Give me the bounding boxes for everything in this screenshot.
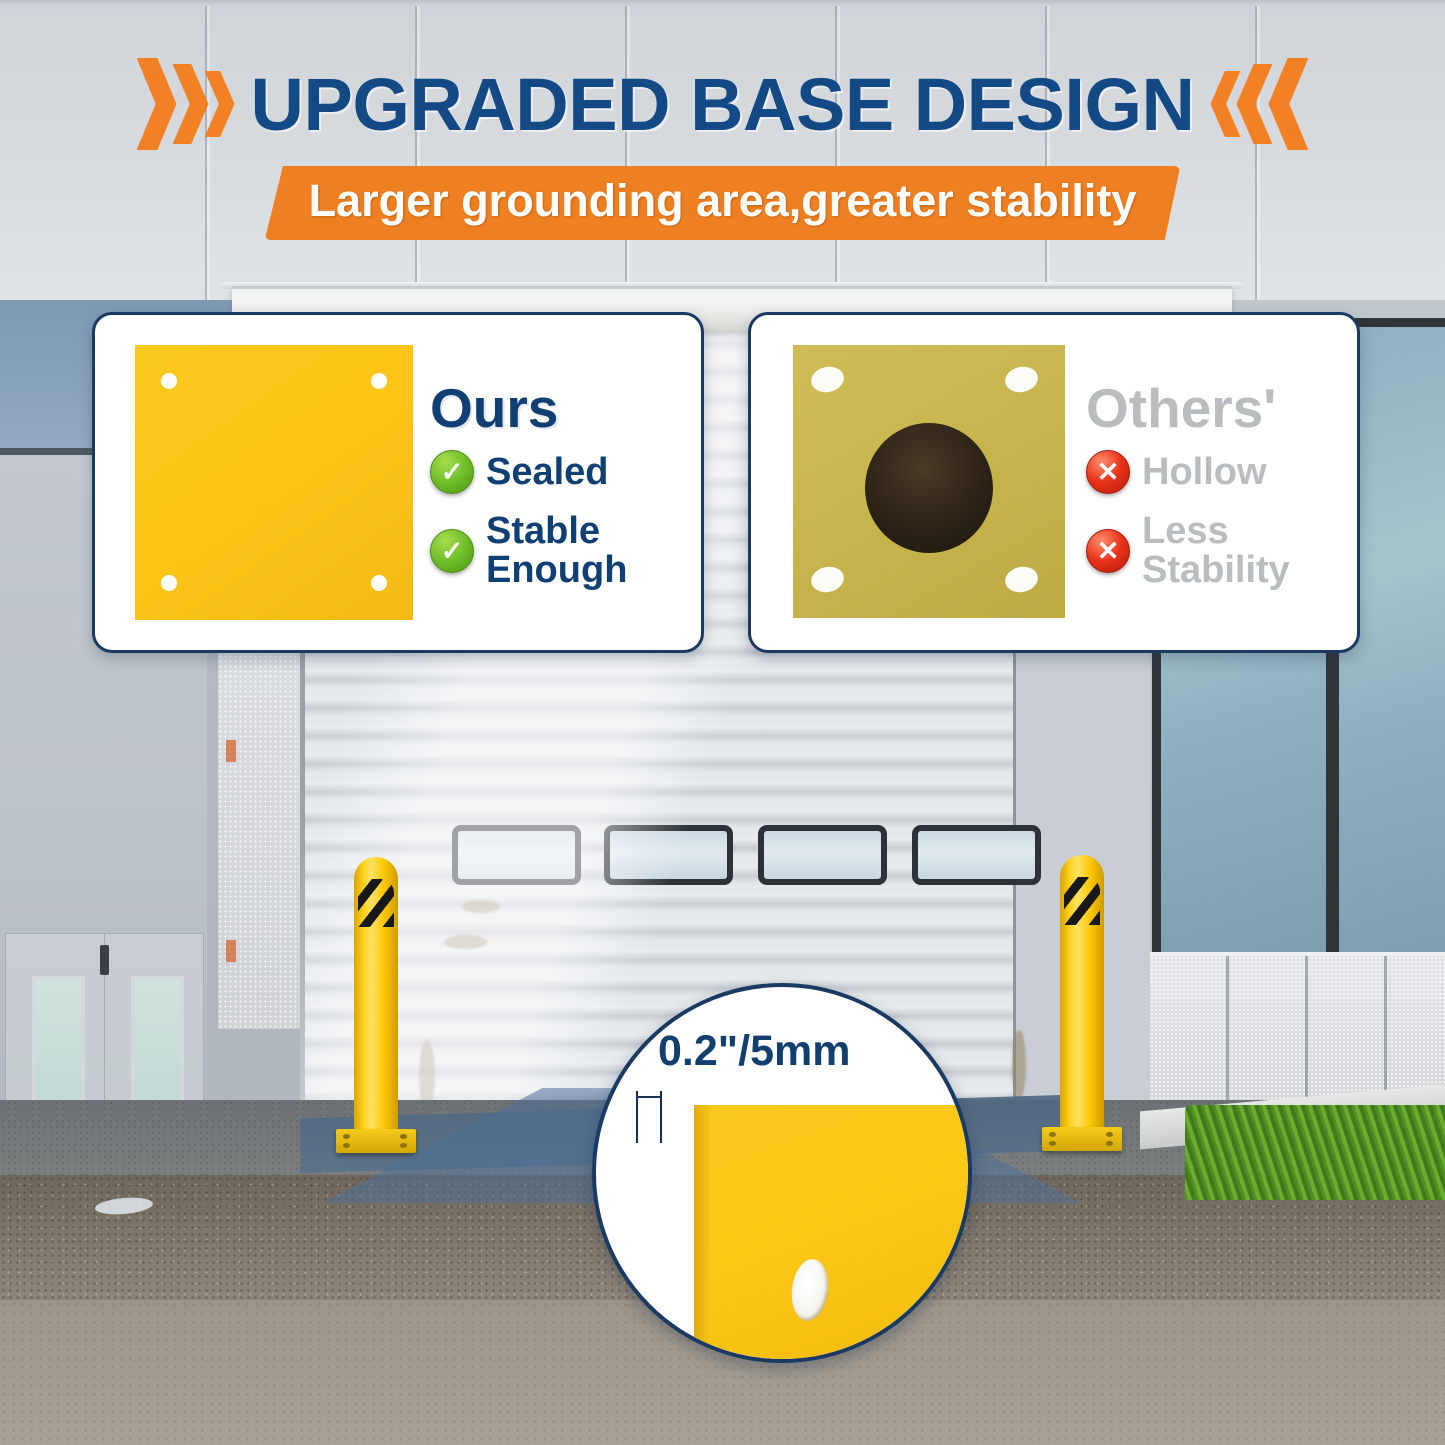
feature-label: Hollow <box>1142 453 1267 492</box>
wall-marking <box>226 740 236 762</box>
thickness-label: 0.2"/5mm <box>658 1027 851 1076</box>
chevron-right-icon <box>137 58 177 150</box>
feature-item-sealed: ✓ Sealed <box>430 450 698 494</box>
hazard-stripes <box>358 879 394 927</box>
feature-item-stable-enough: ✓ Stable Enough <box>430 512 698 590</box>
ours-base-plate-image <box>135 345 413 620</box>
bollard-base-plate <box>336 1129 416 1153</box>
subtitle-text: Larger grounding area,greater stability <box>309 175 1137 227</box>
feature-label-line2: Enough <box>486 551 627 590</box>
check-circle-icon: ✓ <box>430 529 474 573</box>
x-circle-icon: ✕ <box>1086 450 1130 494</box>
subtitle-banner: Larger grounding area,greater stability <box>265 166 1181 240</box>
thickness-caliper-icon <box>636 1091 662 1143</box>
ours-feature-list: ✓ Sealed ✓ Stable Enough <box>430 450 698 590</box>
ours-card-text: Ours ✓ Sealed ✓ Stable Enough <box>430 315 698 650</box>
magnified-plate <box>694 1105 972 1363</box>
bollard-base-plate <box>1042 1127 1122 1151</box>
hazard-stripes <box>1064 877 1100 925</box>
page-title: UPGRADED BASE DESIGN <box>251 62 1195 147</box>
wall-top-shadow <box>0 0 1445 6</box>
wall-marking <box>226 940 236 962</box>
others-heading: Others' <box>1086 381 1354 436</box>
door-handle-icon <box>100 945 109 975</box>
feature-label: Stable Enough <box>486 512 627 590</box>
shutter-window-panel <box>758 825 887 885</box>
ours-heading: Ours <box>430 381 698 436</box>
chevron-group-right <box>1210 58 1308 150</box>
chevron-left-icon <box>1236 64 1272 144</box>
feature-label-line2: Stability <box>1142 551 1290 590</box>
comparison-card-ours: Ours ✓ Sealed ✓ Stable Enough <box>92 312 704 653</box>
feature-item-hollow: ✕ Hollow <box>1086 450 1354 494</box>
others-card-text: Others' ✕ Hollow ✕ Less Stability <box>1086 315 1354 650</box>
feature-item-less-stability: ✕ Less Stability <box>1086 512 1354 590</box>
shutter-stain <box>1012 1030 1026 1100</box>
chevron-right-icon <box>205 71 235 137</box>
comparison-card-others: Others' ✕ Hollow ✕ Less Stability <box>748 312 1360 653</box>
shutter-stain <box>462 900 500 913</box>
magnifier-callout: 0.2"/5mm <box>592 983 972 1363</box>
chevron-left-icon <box>1268 58 1308 150</box>
feature-label-line1: Less <box>1142 512 1290 551</box>
hollow-center-hole <box>865 423 993 553</box>
magnified-plate-edge <box>694 1105 710 1363</box>
check-circle-icon: ✓ <box>430 450 474 494</box>
feature-label: Sealed <box>486 453 609 492</box>
shutter-window-panel <box>452 825 581 885</box>
chevron-left-icon <box>1210 71 1240 137</box>
others-feature-list: ✕ Hollow ✕ Less Stability <box>1086 450 1354 590</box>
title-row: UPGRADED BASE DESIGN <box>0 58 1445 150</box>
others-base-plate-image <box>793 345 1065 618</box>
shutter-stain <box>444 935 488 949</box>
chevron-right-icon <box>173 64 209 144</box>
chevron-group-left <box>137 58 235 150</box>
feature-label-line1: Stable <box>486 512 627 551</box>
feature-label: Less Stability <box>1142 512 1290 590</box>
grass-patch <box>1185 1105 1445 1200</box>
warehouse-upper-wall <box>0 0 1445 300</box>
textured-wall-base <box>218 625 302 1029</box>
shutter-window-panel <box>604 825 733 885</box>
shutter-window-panel <box>912 825 1041 885</box>
product-infographic: UPGRADED BASE DESIGN Larger grounding ar… <box>0 0 1445 1445</box>
subtitle-wrap: Larger grounding area,greater stability <box>0 166 1445 240</box>
x-circle-icon: ✕ <box>1086 529 1130 573</box>
